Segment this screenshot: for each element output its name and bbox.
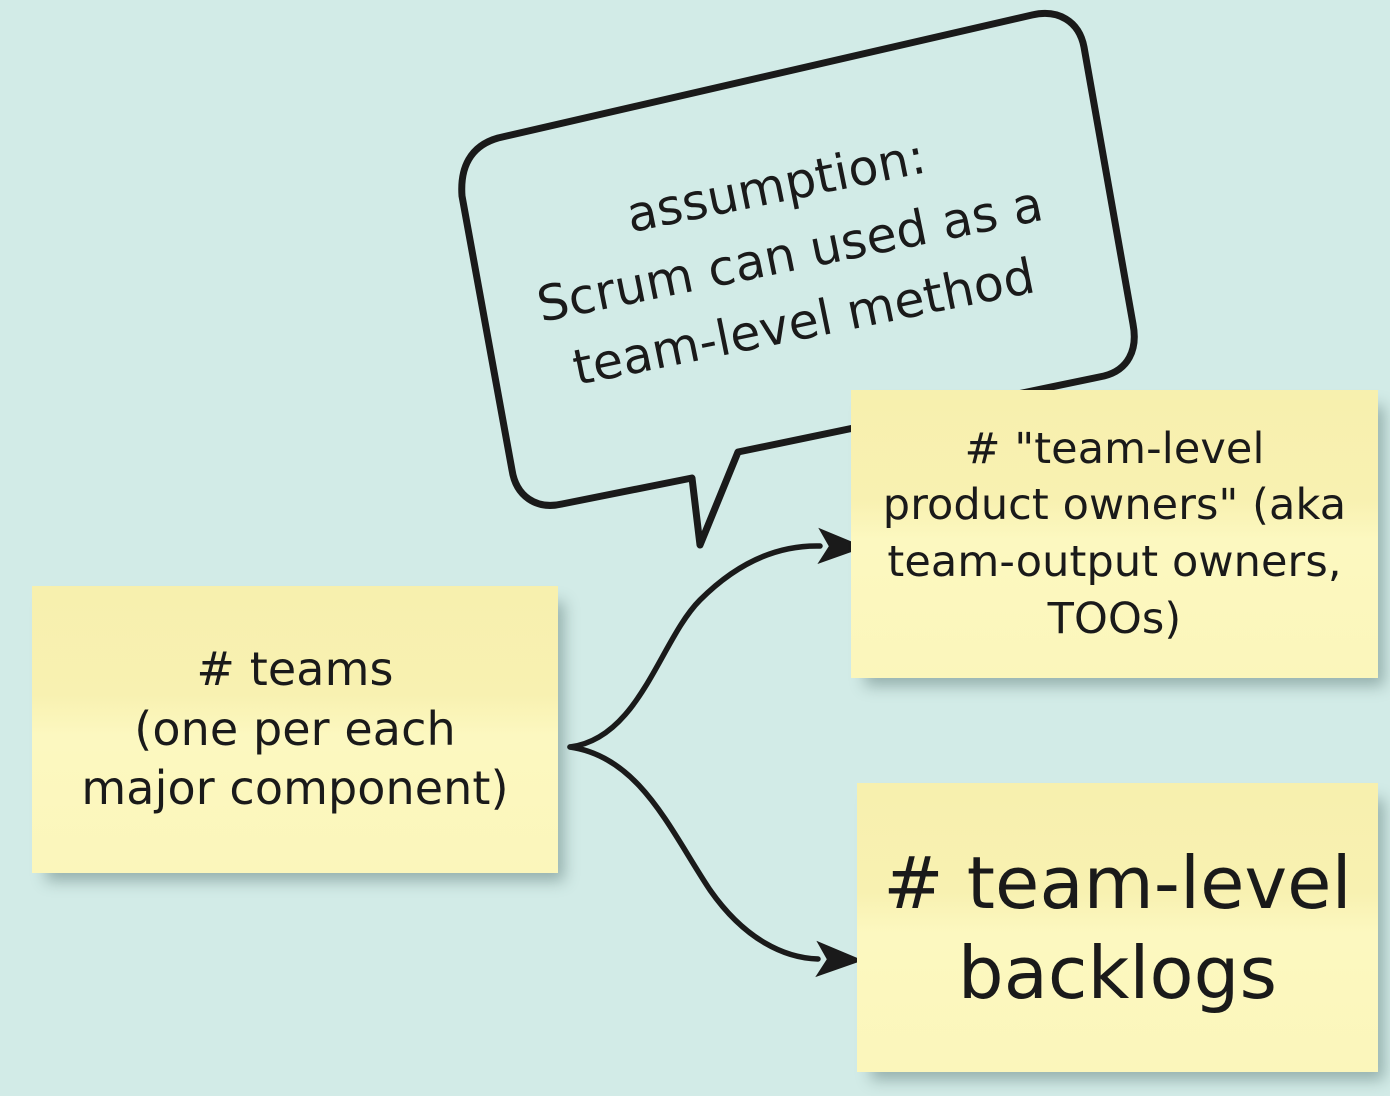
- sticky-note-teams-text: # teams (one per each major component): [32, 640, 558, 819]
- sticky-note-owners-text: # "team-level product owners" (aka team-…: [851, 421, 1378, 648]
- assumption-callout-text: assumption: Scrum can used as a team-lev…: [456, 88, 1125, 420]
- sticky-note-team-level-product-owners[interactable]: # "team-level product owners" (aka team-…: [851, 390, 1378, 678]
- arrow-teams-to-backlogs: [570, 747, 818, 959]
- sticky-note-teams[interactable]: # teams (one per each major component): [32, 586, 558, 873]
- sticky-note-backlogs-text: # team-level backlogs: [857, 838, 1378, 1018]
- arrow-teams-to-owners: [570, 546, 820, 747]
- sticky-note-team-level-backlogs[interactable]: # team-level backlogs: [857, 783, 1378, 1072]
- diagram-canvas: assumption: Scrum can used as a team-lev…: [0, 0, 1390, 1096]
